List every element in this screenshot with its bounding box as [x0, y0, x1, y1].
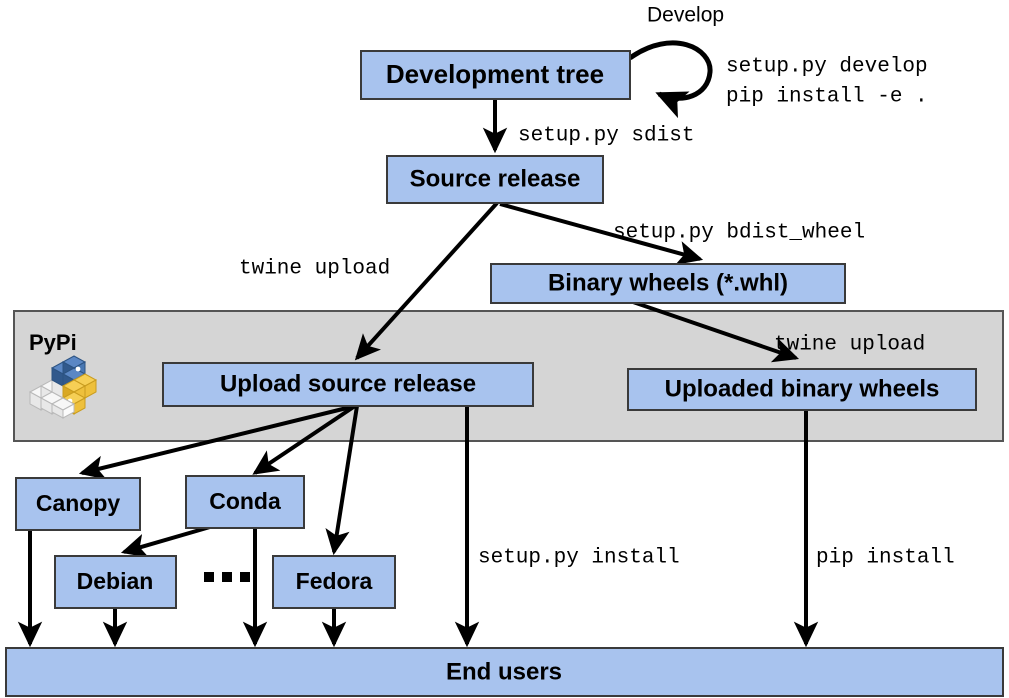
edge-label-setup-install: setup.py install: [478, 547, 680, 570]
edge-develop-self-loop: [630, 43, 710, 98]
node-canopy-label: Canopy: [36, 490, 121, 516]
flow-diagram-svg: Development tree Source release Binary w…: [0, 0, 1009, 698]
edge-label-pip-install-editable: pip install -e .: [726, 86, 928, 109]
edge-label-develop: Develop: [647, 4, 724, 27]
node-uploaded-binary-wheels-label: Uploaded binary wheels: [665, 375, 940, 402]
edge-label-setup-bdist-wheel: setup.py bdist_wheel: [613, 222, 865, 245]
node-upload-source-release-label: Upload source release: [220, 370, 476, 397]
edge-label-twine-upload-wheels: twine upload: [774, 334, 925, 357]
edge-label-setup-sdist: setup.py sdist: [518, 125, 694, 148]
edge-label-twine-upload-source: twine upload: [239, 258, 390, 281]
edge-label-setup-develop: setup.py develop: [726, 56, 928, 79]
node-fedora-label: Fedora: [296, 568, 373, 594]
node-development-tree-label: Development tree: [386, 59, 604, 89]
pypi-panel-label: PyPi: [29, 330, 77, 355]
node-end-users-label: End users: [446, 658, 562, 685]
node-source-release-label: Source release: [410, 165, 581, 192]
node-debian-label: Debian: [77, 568, 154, 594]
node-binary-wheels-label: Binary wheels (*.whl): [548, 269, 788, 296]
edge-label-pip-install: pip install: [816, 547, 955, 570]
ellipsis-more-distros: [204, 572, 250, 582]
node-conda-label: Conda: [209, 488, 281, 514]
diagram-canvas: Development tree Source release Binary w…: [0, 0, 1009, 698]
